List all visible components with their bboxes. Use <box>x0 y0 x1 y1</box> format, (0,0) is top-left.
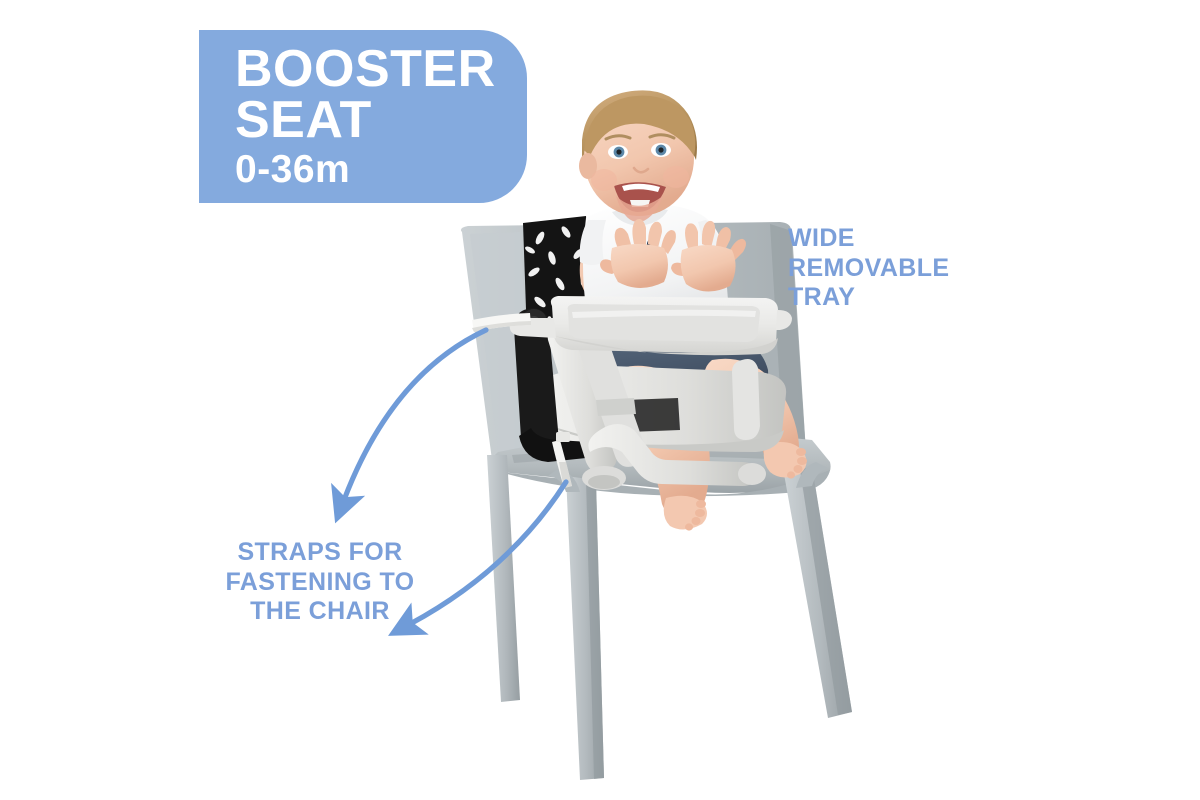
baby-shirt-sleeve-right <box>698 220 726 267</box>
baby-denim-cuff <box>700 376 768 399</box>
chair-front-left-leg-shade <box>586 479 604 779</box>
badge-age-range: 0-36m <box>235 150 527 191</box>
baby-hair-front <box>584 96 695 156</box>
baby-face <box>584 100 694 216</box>
callout-straps-for-fastening: STRAPS FOR FASTENING TO THE CHAIR <box>196 538 444 627</box>
chair-leg-fillet-right <box>796 462 828 488</box>
booster-seat-base-front <box>544 424 784 452</box>
baby-left-hand <box>600 219 676 288</box>
chair-front-left-leg <box>566 476 604 780</box>
badge-title-line2: SEAT <box>235 95 527 146</box>
booster-right-arm <box>732 359 760 440</box>
chair-seat <box>492 431 830 493</box>
booster-fastening-strap-lower-shade <box>559 462 572 488</box>
fabric-pattern <box>524 225 598 335</box>
booster-tray <box>510 296 792 355</box>
baby-shirt-collar <box>612 207 668 226</box>
booster-seat-badge: BOOSTER SEAT 0-36m <box>199 30 527 203</box>
baby-mouth <box>614 182 666 212</box>
baby-eye-right-white <box>651 143 671 157</box>
booster-seat-base <box>538 366 786 450</box>
baby-cheek-right <box>663 166 689 188</box>
tray-front-lip <box>554 336 778 355</box>
chair-backrest-shading <box>470 232 534 464</box>
baby-torso-white-shirt <box>583 204 728 332</box>
booster-seat-crotch-pad <box>626 398 680 432</box>
callout-wide-removable-tray: WIDE REMOVABLE TRAY <box>788 224 949 313</box>
baby-shirt-motif <box>645 236 659 253</box>
arrow-upper-strap <box>344 330 486 500</box>
baby-eye-right-iris <box>656 145 667 156</box>
baby-ear-left <box>579 153 597 179</box>
chair-front-right-leg <box>784 466 852 718</box>
baby-head <box>579 90 697 222</box>
baby-lip-lower <box>616 195 664 222</box>
product-photo <box>0 0 1200 800</box>
baby-eye-left-pupil <box>616 149 621 154</box>
booster-fastening-strap-lower <box>552 440 572 488</box>
strap-buckle <box>556 432 570 442</box>
chair-seat-front-lip <box>500 470 830 496</box>
chair-leg-fillet-left <box>548 470 580 492</box>
booster-fastening-strap-upper <box>472 313 531 332</box>
baby-lower-teeth <box>630 200 650 207</box>
badge-title-line1: BOOSTER <box>235 44 527 95</box>
booster-seat <box>472 296 792 490</box>
baby-cheek-left <box>591 169 617 191</box>
booster-black-foot <box>519 428 592 462</box>
tray-right-mount <box>776 310 792 330</box>
baby-denim-fold <box>640 338 744 348</box>
booster-black-pivot <box>521 309 547 335</box>
baby-brow-left <box>606 136 630 139</box>
baby-shirt-sleeve-left <box>580 220 606 265</box>
baby-right-foot <box>764 442 807 478</box>
booster-frame-leg-joint <box>596 398 636 416</box>
baby-nose <box>634 168 648 172</box>
chair-backrest <box>461 222 806 470</box>
tray-inner-well <box>568 304 760 342</box>
tray-left-mount <box>510 318 556 338</box>
baby-brow-right <box>650 135 674 138</box>
booster-fastening-strap-upper-shade <box>472 321 531 332</box>
tray-body <box>551 296 778 354</box>
baby-eye-right-pupil <box>658 147 663 152</box>
baby-right-arm <box>580 236 618 302</box>
booster-black-side-arm <box>514 308 558 456</box>
booster-black-fabric-backrest <box>523 216 598 338</box>
baby-hair <box>582 90 697 164</box>
chair-front-right-leg-shade <box>800 466 852 715</box>
baby-eye-left-iris <box>614 147 625 158</box>
booster-frame-leg-inner <box>578 327 645 467</box>
callout-arrows <box>0 0 1200 800</box>
booster-foot-right <box>738 463 766 485</box>
baby-eye-left-white <box>608 145 628 159</box>
booster-frame-leg-outer <box>548 319 617 473</box>
tray-inner-highlight <box>572 310 756 318</box>
booster-bottom-bar <box>588 424 756 486</box>
baby-right-toes <box>787 448 807 479</box>
baby <box>579 90 807 530</box>
booster-black-pivot-cap <box>528 316 540 328</box>
chair-seat-gap <box>512 449 792 463</box>
baby-right-leg <box>705 359 799 475</box>
baby-left-foot <box>664 496 707 530</box>
booster-foot-pad <box>582 466 626 490</box>
chair-rear-leg <box>487 455 520 702</box>
baby-denim-shorts <box>596 326 768 408</box>
baby-shirt-motif-2 <box>635 249 646 263</box>
baby-right-hand <box>671 221 746 292</box>
booster-foot-pad-rim <box>588 475 620 489</box>
baby-left-leg <box>607 366 709 521</box>
baby-upper-teeth <box>622 184 660 192</box>
infographic-canvas: BOOSTER SEAT 0-36m WIDE REMOVABLE TRAY S… <box>0 0 1200 800</box>
baby-left-toes <box>685 500 706 531</box>
